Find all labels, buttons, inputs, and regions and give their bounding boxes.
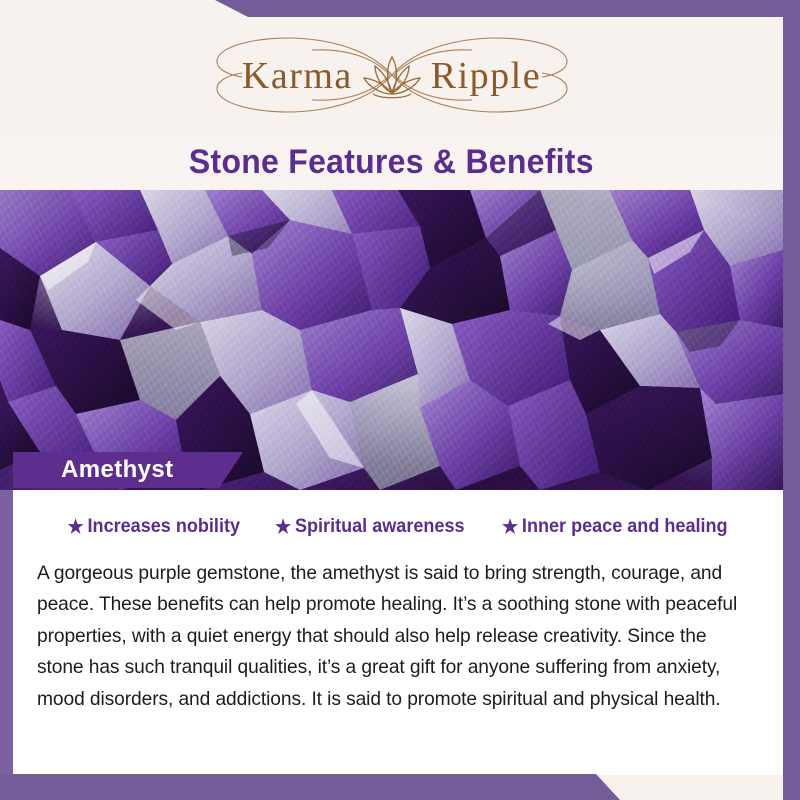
star-icon: ★ — [67, 518, 83, 537]
brand-header: Karma Ripple — [0, 17, 783, 134]
brand-word-left: Karma — [242, 57, 353, 95]
star-icon: ★ — [275, 518, 291, 537]
brand-logo-row: Karma Ripple — [162, 28, 622, 123]
amethyst-photo — [0, 190, 783, 490]
photo-vignette — [0, 190, 783, 490]
benefit-item-0: ★ Increases nobility — [67, 516, 239, 538]
product-info-card: Karma Ripple Stone Features & Benefits — [0, 0, 800, 800]
brand-logo: Karma Ripple — [162, 28, 622, 123]
benefit-item-1: ★ Spiritual awareness — [275, 516, 465, 538]
benefits-list: ★ Increases nobility ★ Spiritual awarene… — [37, 516, 759, 538]
frame-accent-right — [783, 0, 800, 800]
benefit-item-2: ★ Inner peace and healing — [502, 516, 728, 538]
frame-accent-bottom — [0, 774, 800, 800]
frame-accent-top — [0, 0, 800, 17]
benefit-label: Increases nobility — [87, 516, 239, 538]
section-title-band: Stone Features & Benefits — [0, 134, 783, 190]
description-panel: ★ Increases nobility ★ Spiritual awarene… — [13, 490, 783, 775]
stone-name-banner: Amethyst — [13, 452, 243, 488]
lotus-icon — [361, 51, 423, 101]
star-icon: ★ — [502, 518, 518, 537]
brand-word-right: Ripple — [431, 57, 541, 95]
frame-accent-left — [0, 490, 13, 800]
page-title: Stone Features & Benefits — [189, 143, 594, 182]
benefit-label: Spiritual awareness — [295, 516, 465, 538]
benefit-label: Inner peace and healing — [522, 516, 728, 538]
stone-name: Amethyst — [13, 456, 174, 484]
stone-description: A gorgeous purple gemstone, the amethyst… — [37, 558, 748, 716]
